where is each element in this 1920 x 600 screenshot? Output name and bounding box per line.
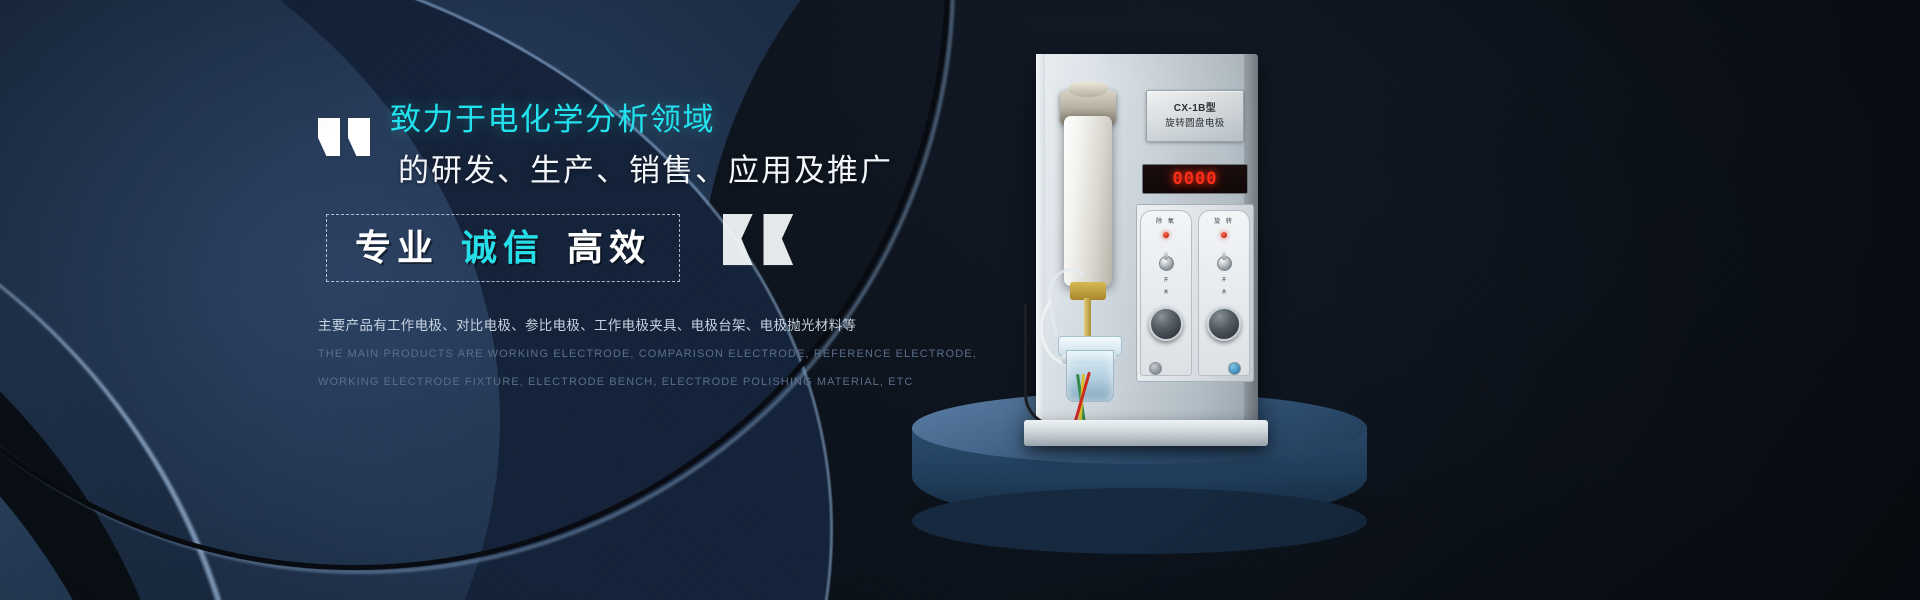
background-curve-c [0, 178, 190, 600]
instrument-cx1b: CX-1B型 旋转圆盘电极 0000 除 氧 开 关 旋 转 开 关 [1018, 54, 1268, 454]
background-curve-b-highlight [0, 126, 250, 600]
nameplate-name: 旋转圆盘电极 [1165, 116, 1224, 131]
indicator-lamp-icon [1221, 232, 1227, 238]
switch-caption-off: 关 [1164, 289, 1169, 295]
products-description-cn: 主要产品有工作电极、对比电极、参比电极、工作电极夹具、电极台架、电极抛光材料等 [318, 316, 878, 336]
power-cord [1024, 304, 1057, 427]
control-panel: 除 氧 开 关 旋 转 开 关 [1136, 204, 1254, 382]
slogan-word-1: 专业 [355, 230, 439, 266]
control-group-rotation: 旋 转 开 关 [1198, 210, 1250, 376]
nameplate-model: CX-1B型 [1174, 101, 1216, 116]
switch-caption-on: 开 [1222, 277, 1227, 283]
switch-caption-off: 关 [1222, 289, 1227, 295]
toggle-switch-icon[interactable] [1217, 256, 1232, 271]
control-label: 除 氧 [1156, 218, 1176, 226]
background-curve-e [0, 300, 98, 600]
rotary-knob-icon[interactable] [1207, 307, 1241, 341]
led-digits: 0000 [1173, 171, 1218, 188]
hero-banner: CX-1B型 旋转圆盘电极 0000 除 氧 开 关 旋 转 开 关 [0, 0, 1920, 600]
control-label: 旋 转 [1214, 218, 1234, 226]
instrument-nameplate: CX-1B型 旋转圆盘电极 [1146, 90, 1244, 142]
switch-caption-on: 开 [1164, 277, 1169, 283]
background-slab-right-inner [1640, 0, 1920, 600]
electrochemical-cell-icon [1066, 350, 1114, 402]
background-curve-b [0, 120, 240, 600]
headline-line-1: 致力于电化学分析领域 [318, 96, 878, 144]
slogan-word-2: 诚信 [461, 230, 545, 266]
quote-open-icon [318, 118, 376, 158]
indicator-lamp-icon [1163, 232, 1169, 238]
banner-copy: 致力于电化学分析领域 的研发、生产、销售、应用及推广 专业 诚信 高效 主要产品… [318, 96, 878, 392]
quote-close-icon [723, 214, 801, 268]
control-group-deoxygenation: 除 氧 开 关 [1140, 210, 1192, 376]
toggle-switch-icon[interactable] [1159, 256, 1174, 271]
background-curve-d [0, 236, 160, 600]
headline-line-2: 的研发、生产、销售、应用及推广 [318, 144, 878, 194]
connector-jack-icon[interactable] [1228, 362, 1241, 375]
led-display: 0000 [1142, 164, 1248, 194]
instrument-base [1024, 420, 1268, 446]
rotary-knob-icon[interactable] [1149, 307, 1183, 341]
products-description-en-line-2: WORKING ELECTRODE FIXTURE, ELECTRODE BEN… [318, 373, 878, 392]
background-slab-right [1530, 0, 1920, 600]
pedestal-bottom [912, 488, 1367, 554]
products-description-en-line-1: THE MAIN PRODUCTS ARE WORKING ELECTRODE,… [318, 345, 878, 364]
slogan-box: 专业 诚信 高效 [326, 214, 680, 282]
connector-jack-icon[interactable] [1149, 362, 1162, 375]
rotating-disk-electrode-icon [1064, 116, 1112, 286]
slogan-word-3: 高效 [567, 230, 651, 266]
